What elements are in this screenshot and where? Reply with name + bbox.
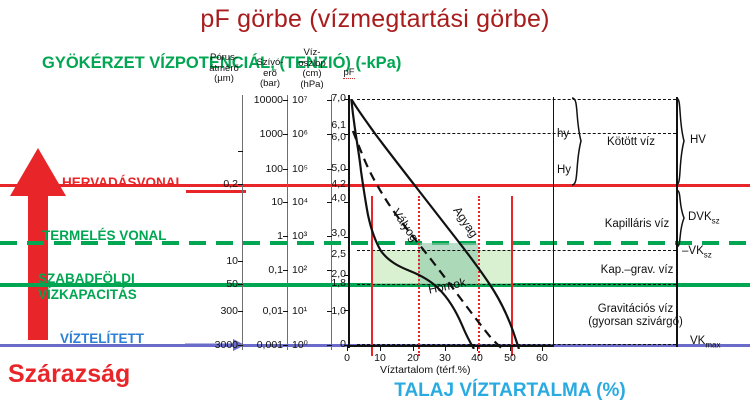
x-label-0: 0 [336, 352, 358, 364]
pf-hdr: pF [343, 67, 354, 79]
dvk-sub: sz [712, 216, 720, 225]
suction-tick-5 [283, 270, 288, 271]
pore-tick-b [238, 184, 243, 185]
pore-tick-d [238, 284, 243, 285]
dvk-main: DVK [688, 211, 712, 223]
pf-value-2-5: 2,5 [322, 248, 346, 260]
pore-hdr-3: (µm) [214, 73, 234, 84]
x-label-30: 30 [434, 352, 456, 364]
pf-value-5-0: 5,0 [322, 162, 346, 174]
x-tick-0 [347, 345, 348, 351]
wcol-hdr-2: oszlop [298, 58, 325, 69]
x-axis-title: Víztartalom (térf.%) [380, 364, 470, 376]
label-dvk-sz: DVKsz [688, 211, 744, 225]
suction-tick-4 [283, 236, 288, 237]
column-header-pf: pF [337, 68, 361, 79]
vk-main: –VK [682, 245, 704, 257]
suction-value-0: 10000 [238, 94, 283, 106]
suction-value-6: 0,01 [238, 305, 283, 317]
column-header-pore-diameter: Pórus- átmérő (µm) [203, 53, 245, 85]
legend-field-capacity: SZABADFÖLDI VÍZKAPACITÁS [38, 271, 137, 303]
legend-wilting-line: HERVADÁSVONAL [62, 175, 184, 190]
pf-value-4-2: 4,2 [322, 178, 346, 190]
x-tick-40 [477, 345, 478, 351]
vkmax-main: VK [690, 335, 705, 347]
x-tick-60 [542, 345, 543, 351]
x-label-60: 60 [531, 352, 553, 364]
x-label-10: 10 [369, 352, 391, 364]
x-label-40: 40 [466, 352, 488, 364]
suction-hdr-1: Szívó- [257, 57, 284, 68]
wcol-value-6: 10¹ [292, 305, 307, 317]
pf-value-6-1: 6,1 [322, 119, 346, 131]
column-header-suction: Szívó- erő (bar) [251, 58, 289, 90]
suction-tick-2 [283, 169, 288, 170]
suction-tick-6 [283, 311, 288, 312]
pore-tick-c [238, 261, 243, 262]
label-kotott-viz: Kötött víz [592, 136, 670, 148]
pore-value-4: 3000 [198, 339, 238, 351]
vk-sub: sz [704, 250, 712, 259]
pf-value-1-8: 1,8 [322, 277, 346, 289]
wcol-hdr-1: Víz- [304, 47, 321, 58]
x-tick-50 [510, 345, 511, 351]
suction-value-5: 0,1 [238, 264, 283, 276]
x-axis-big-title: TALAJ VÍZTARTALMA (%) [330, 380, 690, 402]
suction-value-1: 1000 [238, 128, 283, 140]
vkmax-sub: max [705, 340, 720, 349]
pore-tick-a [238, 151, 243, 152]
pore-value-0: 0,2 [198, 178, 238, 190]
curve-agyag [351, 99, 519, 349]
label-kapillaris-viz: Kapilláris víz [592, 218, 682, 230]
brace-hv-icon [674, 97, 688, 187]
pf-value-7-0: 7,0 [322, 92, 346, 104]
wcol-value-5: 10² [292, 264, 307, 276]
label-gravitacios-viz: Gravitációs víz (gyorsan szivárgó) [578, 303, 693, 329]
x-tick-10 [380, 345, 381, 351]
label-vk-max: VKmax [690, 335, 750, 349]
pore-hdr-2: átmérő [209, 63, 239, 74]
pf-value-6-0: 6,0 [322, 131, 346, 143]
x-tick-30 [445, 345, 446, 351]
wcol-hdr-3: (cm) [303, 68, 322, 79]
suction-value-3: 10 [238, 196, 283, 208]
suction-hdr-3: (bar) [260, 78, 280, 89]
legend-stub-wilting [186, 190, 246, 193]
grav-l1: Gravitációs víz [598, 303, 673, 315]
wcol-value-7: 10⁰ [292, 339, 308, 351]
label-hy-small: hy [553, 128, 579, 140]
x-axis-line [348, 345, 553, 347]
pore-value-3: 300 [198, 305, 238, 317]
label-kap-grav-viz: Kap.–grav. víz [592, 264, 682, 276]
x-label-50: 50 [499, 352, 521, 364]
x-tick-20 [413, 345, 414, 351]
suction-tick-0 [283, 100, 288, 101]
wcol-value-2: 10⁵ [292, 163, 308, 175]
pf-value-4-0: 4,0 [322, 192, 346, 204]
label-hv: HV [690, 134, 720, 146]
legend-field-capacity-l2: VÍZKAPACITÁS [38, 287, 137, 302]
label-hy-big: Hy [553, 164, 583, 176]
column-header-water-column: Víz- oszlop (cm) (hPa) [291, 48, 333, 90]
pf-value-3-0: 3,0 [322, 227, 346, 239]
pore-hdr-1: Pórus- [210, 52, 238, 63]
pf-value-1-0: 1,0 [322, 305, 346, 317]
x-label-20: 20 [402, 352, 424, 364]
wcol-value-0: 10⁷ [292, 94, 307, 106]
page-title: pF görbe (vízmegtartási görbe) [0, 5, 750, 34]
pore-value-2: 50 [198, 278, 238, 290]
pf-value-0: 0 [322, 338, 346, 350]
grav-l2: (gyorsan szivárgó) [588, 316, 683, 328]
suction-tick-1 [283, 134, 288, 135]
suction-tick-7 [283, 345, 288, 346]
legend-dryness: Szárazság [8, 360, 130, 389]
up-arrow-shaft-icon [28, 188, 48, 340]
wcol-hdr-4: (hPa) [300, 79, 323, 90]
label-vk-sz: –VKsz [682, 245, 742, 259]
wcol-value-3: 10⁴ [292, 196, 308, 208]
wcol-value-1: 10⁶ [292, 128, 308, 140]
pore-value-1: 10 [198, 255, 238, 267]
suction-value-7: 0,001 [236, 339, 283, 351]
suction-value-4: 1 [238, 230, 283, 242]
suction-value-2: 100 [238, 163, 283, 175]
brace-dvk-icon [674, 189, 688, 249]
suction-hdr-2: erő [263, 68, 277, 79]
wcol-value-4: 10³ [292, 230, 307, 242]
suction-tick-3 [283, 202, 288, 203]
